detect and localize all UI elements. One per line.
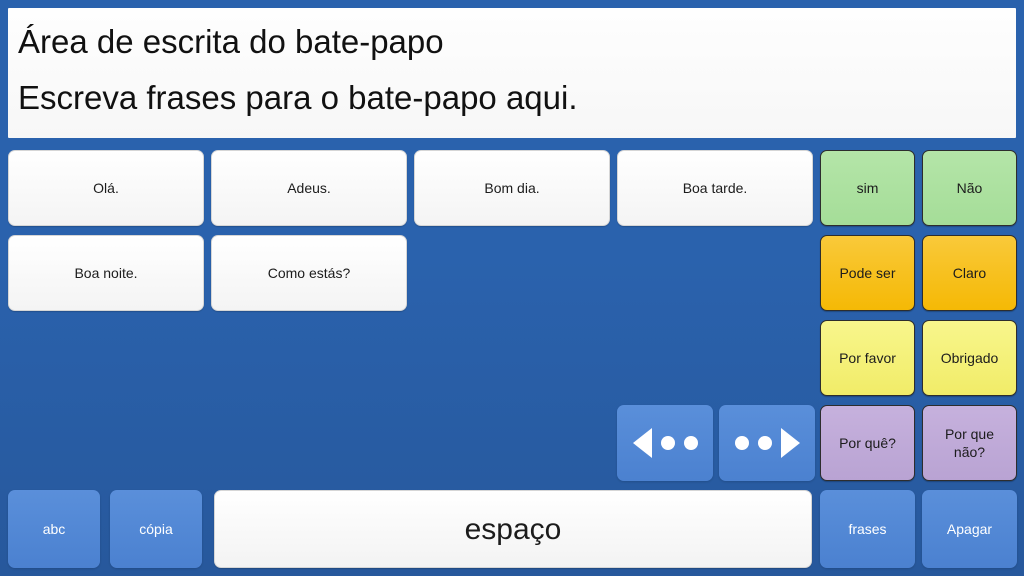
phrase-key-label: Boa tarde. [683,180,748,197]
phrase-key-ola[interactable]: Olá. [8,150,204,226]
write-area-line-1: Área de escrita do bate-papo [18,14,1006,70]
response-key-claro[interactable]: Claro [922,235,1017,311]
abc-button-label: abc [43,521,66,538]
response-key-label: Claro [953,265,986,282]
phrase-key-boa-noite[interactable]: Boa noite. [8,235,204,311]
response-key-por-que-nao[interactable]: Por que não? [922,405,1017,481]
space-button[interactable]: espaço [214,490,812,568]
phrases-button[interactable]: frases [820,490,915,568]
copy-button-label: cópia [139,521,172,538]
delete-button-label: Apagar [947,521,992,538]
response-key-label: sim [857,180,879,197]
chat-keyboard-app: Área de escrita do bate-papo Escreva fra… [0,0,1024,576]
response-key-label: Não [957,180,983,197]
phrase-key-bom-dia[interactable]: Bom dia. [414,150,610,226]
abc-keyboard-button[interactable]: abc [8,490,100,568]
response-key-por-favor[interactable]: Por favor [820,320,915,396]
response-key-sim[interactable]: sim [820,150,915,226]
copy-button[interactable]: cópia [110,490,202,568]
chat-write-area[interactable]: Área de escrita do bate-papo Escreva fra… [6,6,1018,140]
phrase-key-adeus[interactable]: Adeus. [211,150,407,226]
write-area-line-2: Escreva frases para o bate-papo aqui. [18,70,1006,126]
response-key-label: Pode ser [839,265,895,282]
response-key-nao[interactable]: Não [922,150,1017,226]
space-button-label: espaço [465,521,562,538]
phrase-key-label: Boa noite. [74,265,137,282]
previous-page-button[interactable] [617,405,713,481]
phrase-key-como-estas[interactable]: Como estás? [211,235,407,311]
arrow-left-icon [633,428,698,458]
response-key-label: Por quê? [839,435,896,452]
delete-button[interactable]: Apagar [922,490,1017,568]
phrase-key-label: Como estás? [268,265,350,282]
response-key-pode-ser[interactable]: Pode ser [820,235,915,311]
response-key-obrigado[interactable]: Obrigado [922,320,1017,396]
response-key-label: Por que não? [945,425,994,461]
phrase-key-label: Adeus. [287,180,331,197]
phrases-button-label: frases [848,521,886,538]
response-key-label: Obrigado [941,350,999,367]
phrase-key-boa-tarde[interactable]: Boa tarde. [617,150,813,226]
phrase-key-label: Olá. [93,180,119,197]
next-page-button[interactable] [719,405,815,481]
phrase-key-label: Bom dia. [484,180,539,197]
arrow-right-icon [735,428,800,458]
response-key-label: Por favor [839,350,896,367]
response-key-por-que[interactable]: Por quê? [820,405,915,481]
